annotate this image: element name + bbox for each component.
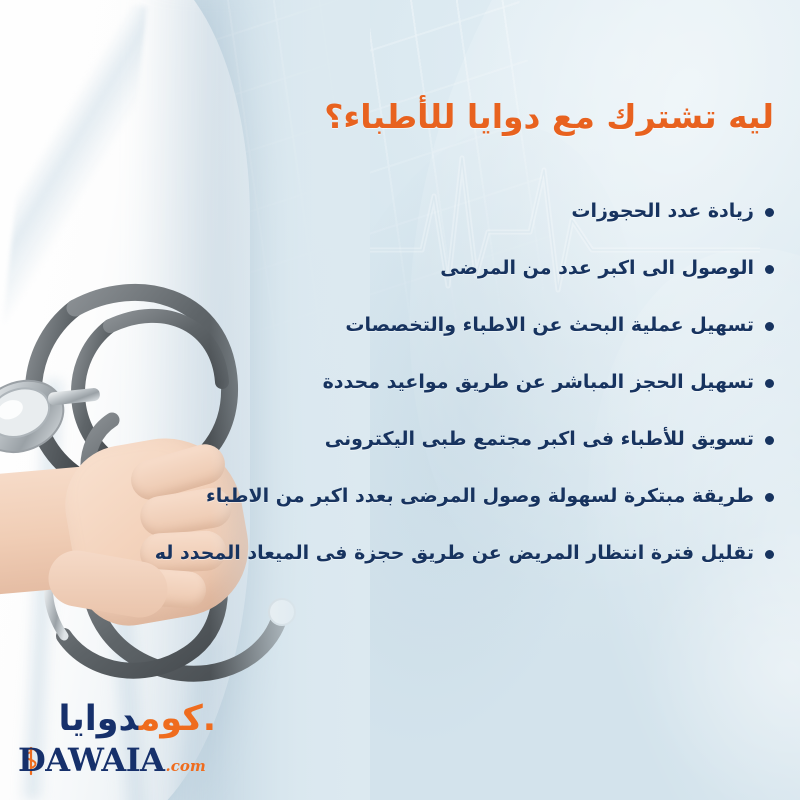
list-item: تسويق للأطباء فى اكبر مجتمع طبى اليكترون… [18,411,774,468]
list-item-label: تسهيل عملية البحث عن الاطباء والتخصصات [345,314,754,337]
list-item-label: طريقة مبتكرة لسهولة وصول المرضى بعدد اكب… [206,485,754,508]
bullet-dot-icon [765,493,774,502]
list-item-label: زيادة عدد الحجوزات [571,200,754,223]
page-title: ليه تشترك مع دوايا للأطباء؟ [34,96,774,137]
benefits-list: زيادة عدد الحجوزات الوصول الى اكبر عدد م… [18,183,774,582]
bullet-dot-icon [765,379,774,388]
list-item: زيادة عدد الحجوزات [18,183,774,240]
logo-arabic-tld: .كوم [139,699,216,739]
promo-poster: ليه تشترك مع دوايا للأطباء؟ زيادة عدد ال… [0,0,800,800]
bullet-dot-icon [765,265,774,274]
bullet-dot-icon [765,436,774,445]
list-item-label: تسويق للأطباء فى اكبر مجتمع طبى اليكترون… [325,428,754,451]
bullet-dot-icon [765,550,774,559]
logo-latin-name: DAWAIA [18,744,165,776]
list-item-label: تقليل فترة انتظار المريض عن طريق حجزة فى… [155,542,754,565]
bullet-dot-icon [765,322,774,331]
bullet-dot-icon [765,208,774,217]
list-item-label: تسهيل الحجز المباشر عن طريق مواعيد محددة [323,371,754,394]
logo-arabic-name: دوايا [58,699,138,739]
list-item: تسهيل عملية البحث عن الاطباء والتخصصات [18,297,774,354]
list-item-label: الوصول الى اكبر عدد من المرضى [440,257,754,280]
list-item: طريقة مبتكرة لسهولة وصول المرضى بعدد اكب… [18,468,774,525]
logo-latin-tld: .com [166,757,206,775]
list-item: تسهيل الحجز المباشر عن طريق مواعيد محددة [18,354,774,411]
brand-logo[interactable]: .كومدوايا DAWAIA .com [16,702,226,788]
logo-latin-wordmark: DAWAIA .com [18,744,206,776]
logo-arabic-wordmark: .كومدوايا [16,702,216,737]
list-item: الوصول الى اكبر عدد من المرضى [18,240,774,297]
list-item: تقليل فترة انتظار المريض عن طريق حجزة فى… [18,525,774,582]
poster-content: ليه تشترك مع دوايا للأطباء؟ زيادة عدد ال… [0,0,800,800]
